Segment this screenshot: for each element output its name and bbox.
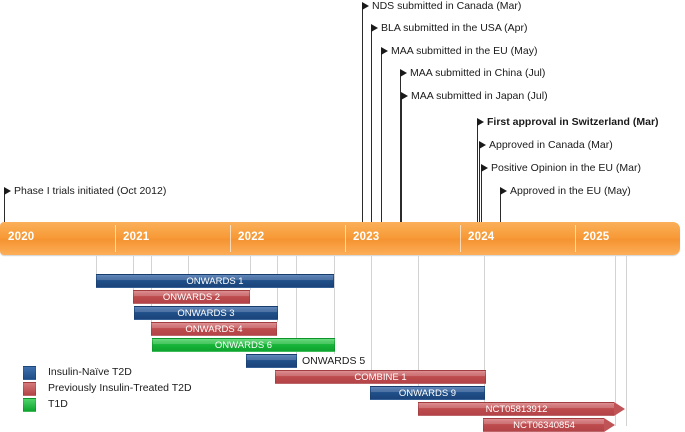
gantt-bar-onwards-3[interactable]: ONWARDS 3 bbox=[134, 306, 278, 320]
milestone-maa-eu[interactable]: MAA submitted in the EU (May) bbox=[381, 45, 537, 57]
year-label-2020: 2020 bbox=[8, 231, 34, 243]
milestone-label: BLA submitted in the USA (Apr) bbox=[381, 22, 528, 34]
gantt-bar-label: ONWARDS 6 bbox=[153, 339, 334, 353]
milestone-line-nds-canada bbox=[362, 4, 363, 222]
ongoing-arrow-icon bbox=[614, 402, 625, 416]
year-label-2024: 2024 bbox=[468, 231, 494, 243]
milestone-arrow-icon bbox=[401, 92, 408, 100]
gridline bbox=[626, 256, 627, 426]
year-label-2025: 2025 bbox=[583, 231, 609, 243]
gantt-bar-label: ONWARDS 3 bbox=[135, 307, 277, 321]
milestone-positive-opinion-eu[interactable]: Positive Opinion in the EU (Mar) bbox=[481, 162, 641, 174]
milestone-maa-japan[interactable]: MAA submitted in Japan (Jul) bbox=[401, 90, 548, 102]
milestone-label: MAA submitted in China (Jul) bbox=[410, 67, 545, 79]
ongoing-arrow-icon bbox=[604, 418, 615, 432]
milestone-arrow-icon bbox=[400, 69, 407, 77]
gantt-bar-onwards-9[interactable]: ONWARDS 9 bbox=[370, 386, 485, 400]
year-divider bbox=[230, 225, 231, 252]
gantt-bar-label: ONWARDS 9 bbox=[371, 387, 484, 401]
milestone-label: MAA submitted in Japan (Jul) bbox=[411, 90, 548, 102]
milestone-label: Approved in Canada (Mar) bbox=[489, 139, 613, 151]
milestone-arrow-icon bbox=[477, 118, 484, 126]
milestone-label: NDS submitted in Canada (Mar) bbox=[372, 0, 521, 12]
legend-swatch-green bbox=[23, 398, 36, 412]
legend-label: T1D bbox=[48, 397, 68, 412]
bar-bevel bbox=[247, 355, 296, 360]
milestone-approved-canada[interactable]: Approved in Canada (Mar) bbox=[479, 139, 613, 151]
year-label-2022: 2022 bbox=[238, 231, 264, 243]
year-divider bbox=[460, 225, 461, 252]
milestone-line-maa-japan bbox=[401, 94, 402, 222]
milestone-approval-switzerland[interactable]: First approval in Switzerland (Mar) bbox=[477, 116, 659, 128]
gantt-bar-label: ONWARDS 2 bbox=[134, 291, 249, 305]
milestone-arrow-icon bbox=[500, 187, 507, 195]
gantt-bar-label: NCT06340854 bbox=[484, 419, 604, 432]
legend-label: Insulin-Naïve T2D bbox=[48, 365, 132, 380]
milestone-arrow-icon bbox=[381, 47, 388, 55]
year-label-2021: 2021 bbox=[123, 231, 149, 243]
milestone-arrow-icon bbox=[362, 2, 369, 10]
milestone-label: First approval in Switzerland (Mar) bbox=[487, 116, 659, 128]
milestone-label: Positive Opinion in the EU (Mar) bbox=[491, 162, 641, 174]
milestone-line-approval-switzerland bbox=[477, 120, 478, 222]
milestone-bla-usa[interactable]: BLA submitted in the USA (Apr) bbox=[371, 22, 528, 34]
year-divider bbox=[575, 225, 576, 252]
milestone-phase-1-trials[interactable]: Phase I trials initiated (Oct 2012) bbox=[4, 185, 166, 197]
milestone-approved-eu[interactable]: Approved in the EU (May) bbox=[500, 185, 631, 197]
gantt-bar-label: ONWARDS 1 bbox=[97, 275, 333, 289]
legend-swatch-blue bbox=[23, 366, 36, 380]
gridline bbox=[615, 256, 616, 426]
milestone-nds-canada[interactable]: NDS submitted in Canada (Mar) bbox=[362, 0, 521, 12]
milestone-label: Phase I trials initiated (Oct 2012) bbox=[14, 185, 166, 197]
milestone-arrow-icon bbox=[4, 187, 11, 195]
gantt-bar-onwards-2[interactable]: ONWARDS 2 bbox=[133, 290, 250, 304]
timeline-axis: 2020 2021 2022 2023 2024 2025 bbox=[0, 222, 680, 255]
gantt-bar-combine-1[interactable]: COMBINE 1 bbox=[275, 370, 486, 384]
gantt-bar-onwards-4[interactable]: ONWARDS 4 bbox=[151, 322, 277, 336]
year-divider bbox=[115, 225, 116, 252]
gantt-bar-onwards-6[interactable]: ONWARDS 6 bbox=[152, 338, 335, 352]
gridline bbox=[96, 256, 97, 274]
milestone-arrow-icon bbox=[479, 141, 486, 149]
gantt-bar-nct05813912[interactable]: NCT05813912 bbox=[418, 402, 614, 416]
gantt-bar-onwards-1[interactable]: ONWARDS 1 bbox=[96, 274, 334, 288]
milestone-arrow-icon bbox=[371, 24, 378, 32]
gantt-bar-label: NCT05813912 bbox=[419, 403, 614, 417]
milestone-arrow-icon bbox=[481, 164, 488, 172]
legend-label: Previously Insulin-Treated T2D bbox=[48, 381, 192, 396]
milestone-maa-china[interactable]: MAA submitted in China (Jul) bbox=[400, 67, 545, 79]
year-label-2023: 2023 bbox=[353, 231, 379, 243]
gantt-bar-nct06340854[interactable]: NCT06340854 bbox=[483, 418, 604, 432]
gridline bbox=[188, 256, 189, 274]
milestone-line-positive-opinion-eu bbox=[481, 166, 482, 222]
gantt-bar-onwards-5[interactable] bbox=[246, 354, 297, 368]
gantt-bar-label: ONWARDS 4 bbox=[152, 323, 276, 337]
timeline-chart: NDS submitted in Canada (Mar) BLA submit… bbox=[0, 0, 685, 432]
gantt-bar-label: COMBINE 1 bbox=[276, 371, 485, 385]
year-divider bbox=[345, 225, 346, 252]
milestone-label: MAA submitted in the EU (May) bbox=[391, 45, 537, 57]
legend-swatch-red bbox=[23, 382, 36, 396]
gridline bbox=[418, 256, 419, 386]
gridline bbox=[371, 256, 372, 370]
milestone-label: Approved in the EU (May) bbox=[510, 185, 631, 197]
milestone-line-approved-canada bbox=[479, 143, 480, 222]
gantt-bar-label-onwards-5: ONWARDS 5 bbox=[302, 354, 365, 368]
milestone-line-maa-eu bbox=[381, 49, 382, 222]
milestone-line-bla-usa bbox=[371, 27, 372, 222]
